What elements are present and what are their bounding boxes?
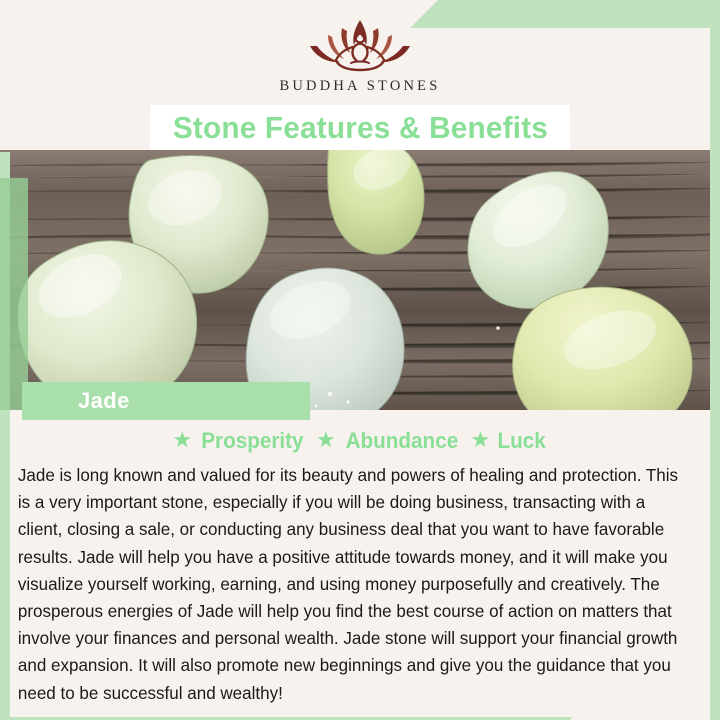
stone-features-infographic: BUDDHA STONES bbox=[0, 0, 720, 720]
benefit-item: ★ Luck bbox=[471, 428, 548, 454]
star-icon: ★ bbox=[172, 429, 192, 451]
photo-left-green-overlay bbox=[0, 178, 28, 410]
benefit-item: ★ Abundance bbox=[316, 428, 462, 454]
decorative-corner-top-right bbox=[410, 0, 720, 28]
benefit-item: ★ Prosperity bbox=[172, 428, 307, 454]
brand-wordmark: BUDDHA STONES bbox=[280, 78, 441, 95]
decorative-border-right bbox=[710, 0, 720, 720]
benefit-label: Abundance bbox=[345, 428, 458, 454]
title-banner: Stone Features & Benefits bbox=[150, 105, 570, 150]
stone-description: Jade is long known and valued for its be… bbox=[10, 458, 700, 717]
stone-name: Jade bbox=[78, 388, 130, 414]
star-icon: ★ bbox=[316, 429, 336, 451]
star-icon: ★ bbox=[471, 429, 491, 451]
benefit-label: Prosperity bbox=[201, 428, 303, 454]
benefit-label: Luck bbox=[498, 428, 546, 454]
page-title: Stone Features & Benefits bbox=[172, 110, 547, 146]
jade-stones-photo bbox=[0, 150, 720, 410]
lotus-meditation-icon bbox=[292, 14, 428, 76]
stone-name-band: Jade bbox=[22, 382, 310, 420]
benefits-row: ★ Prosperity ★ Abundance ★ Luck bbox=[0, 428, 720, 454]
